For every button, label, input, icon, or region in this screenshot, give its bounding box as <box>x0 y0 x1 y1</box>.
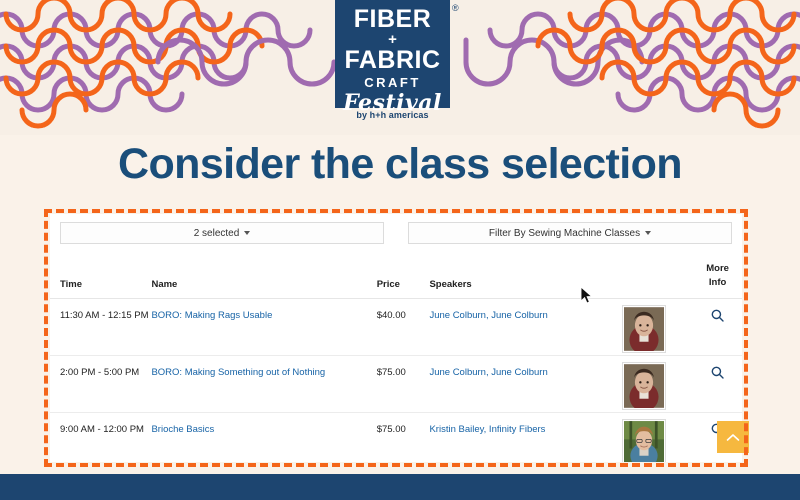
cell-more-info[interactable] <box>693 355 742 412</box>
search-icon[interactable] <box>711 366 724 384</box>
column-header-speakers[interactable]: Speakers <box>429 260 622 298</box>
avatar[interactable] <box>622 419 666 462</box>
search-icon[interactable] <box>711 309 724 327</box>
cell-speakers[interactable]: June Colburn, June Colburn <box>429 298 622 355</box>
sewing-machine-filter-dropdown[interactable]: Filter By Sewing Machine Classes <box>408 222 732 244</box>
june-colburn-portrait <box>624 307 664 351</box>
column-header-more-info: More Info <box>693 260 742 298</box>
class-schedule-table: Time Name Price Speakers More Info 11:30… <box>50 260 742 462</box>
chevron-down-icon <box>244 231 250 235</box>
cell-speakers[interactable]: Kristin Bailey, Infinity Fibers <box>429 412 622 462</box>
cell-class-name[interactable]: BORO: Making Something out of Nothing <box>151 355 376 412</box>
table-header-row: Time Name Price Speakers More Info <box>50 260 742 298</box>
cell-speaker-photo[interactable] <box>622 355 693 412</box>
chevron-down-icon <box>645 231 651 235</box>
cell-price: $40.00 <box>377 298 430 355</box>
cell-price: $75.00 <box>377 355 430 412</box>
chevron-up-icon <box>726 433 740 442</box>
logo-word-fabric: FABRIC <box>344 48 440 73</box>
column-header-image <box>622 260 693 298</box>
cell-speaker-photo[interactable] <box>622 298 693 355</box>
logo-word-fiber: FIBER <box>354 7 432 32</box>
scroll-to-top-button[interactable] <box>717 421 749 453</box>
page-title: Consider the class selection <box>0 140 800 189</box>
cell-more-info[interactable] <box>693 298 742 355</box>
header-banner: FIBER + FABRIC CRAFT Festival ® by h+h a… <box>0 0 800 135</box>
cell-price: $75.00 <box>377 412 430 462</box>
cell-speaker-photo[interactable] <box>622 412 693 462</box>
selected-count-label: 2 selected <box>194 228 240 239</box>
footer-bar <box>0 474 800 500</box>
arrow-cursor <box>580 286 593 305</box>
cell-time: 11:30 AM - 12:15 PM <box>50 298 151 355</box>
cell-speakers[interactable]: June Colburn, June Colburn <box>429 355 622 412</box>
avatar[interactable] <box>622 362 666 410</box>
column-header-price[interactable]: Price <box>377 260 430 298</box>
cell-class-name[interactable]: BORO: Making Rags Usable <box>151 298 376 355</box>
sewing-machine-filter-label: Filter By Sewing Machine Classes <box>489 228 640 239</box>
june-colburn-portrait <box>624 364 664 408</box>
cell-time: 2:00 PM - 5:00 PM <box>50 355 151 412</box>
column-header-name[interactable]: Name <box>151 260 376 298</box>
more-info-line1: More <box>706 263 729 274</box>
selected-count-dropdown[interactable]: 2 selected <box>60 222 384 244</box>
avatar[interactable] <box>622 305 666 353</box>
kristin-bailey-portrait <box>624 421 664 462</box>
column-header-time[interactable]: Time <box>50 260 151 298</box>
logo-tagline: by h+h americas <box>335 110 450 120</box>
festival-logo[interactable]: FIBER + FABRIC CRAFT Festival <box>335 0 450 108</box>
filter-bar: 2 selected Filter By Sewing Machine Clas… <box>50 214 742 244</box>
table-row[interactable]: 2:00 PM - 5:00 PM BORO: Making Something… <box>50 355 742 412</box>
page-root: FIBER + FABRIC CRAFT Festival ® by h+h a… <box>0 0 800 500</box>
class-selection-panel: 2 selected Filter By Sewing Machine Clas… <box>50 214 742 462</box>
table-row[interactable]: 11:30 AM - 12:15 PM BORO: Making Rags Us… <box>50 298 742 355</box>
table-body: 11:30 AM - 12:15 PM BORO: Making Rags Us… <box>50 298 742 462</box>
more-info-line2: Info <box>709 277 726 288</box>
table-row[interactable]: 9:00 AM - 12:00 PM Brioche Basics $75.00… <box>50 412 742 462</box>
cell-class-name[interactable]: Brioche Basics <box>151 412 376 462</box>
cell-time: 9:00 AM - 12:00 PM <box>50 412 151 462</box>
registered-trademark-icon: ® <box>452 3 459 13</box>
